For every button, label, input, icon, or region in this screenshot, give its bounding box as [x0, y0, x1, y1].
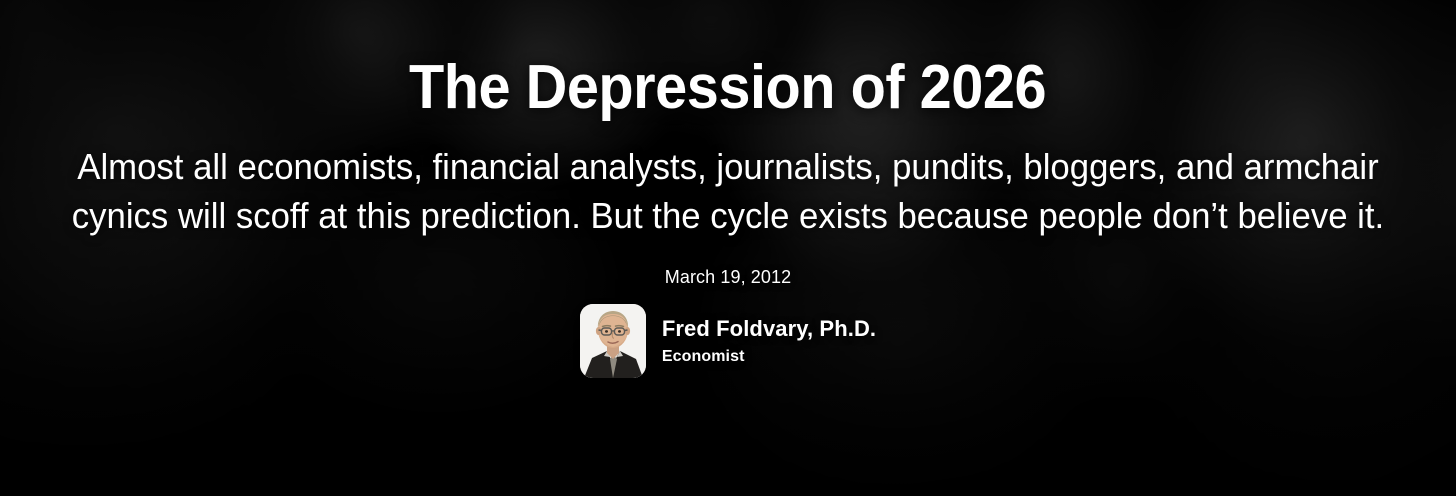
publish-date: March 19, 2012 [665, 267, 791, 288]
author-name: Fred Foldvary, Ph.D. [662, 316, 876, 343]
article-hero-banner: The Depression of 2026 Almost all econom… [0, 0, 1456, 496]
avatar[interactable] [580, 304, 646, 378]
byline-text: Fred Foldvary, Ph.D. Economist [662, 316, 876, 367]
avatar-portrait-icon [580, 304, 646, 378]
author-role: Economist [662, 347, 876, 366]
article-subtitle: Almost all economists, financial analyst… [53, 143, 1404, 241]
byline[interactable]: Fred Foldvary, Ph.D. Economist [580, 304, 876, 378]
hero-content: The Depression of 2026 Almost all econom… [0, 0, 1456, 496]
page-title: The Depression of 2026 [409, 56, 1046, 119]
